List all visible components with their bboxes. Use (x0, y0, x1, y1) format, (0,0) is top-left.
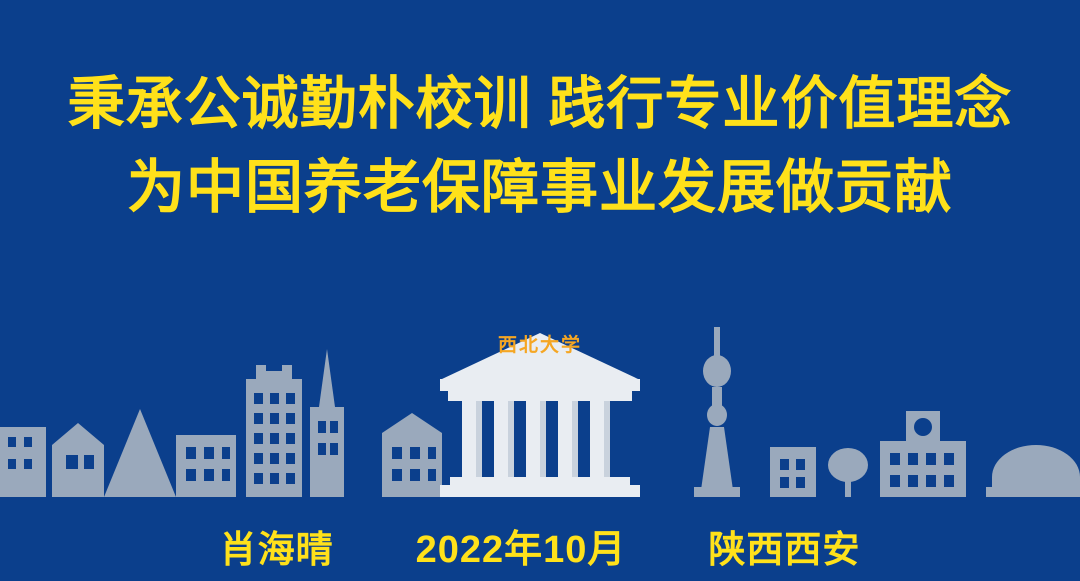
title-line-2: 为中国养老保障事业发展做贡献 (0, 146, 1080, 230)
city-skyline-silhouette-icon (0, 287, 1080, 497)
presentation-slide: 秉承公诚勤朴校训 践行专业价值理念 为中国养老保障事业发展做贡献 (0, 0, 1080, 581)
presentation-date: 2022年10月 (416, 518, 627, 573)
title-block: 秉承公诚勤朴校训 践行专业价值理念 为中国养老保障事业发展做贡献 (0, 62, 1080, 230)
title-line-1: 秉承公诚勤朴校训 践行专业价值理念 (0, 62, 1080, 146)
presenter-name: 肖海晴 (220, 519, 334, 573)
footer-row: 肖海晴 2022年10月 陕西西安 (0, 518, 1080, 573)
presentation-location: 陕西西安 (708, 519, 860, 573)
